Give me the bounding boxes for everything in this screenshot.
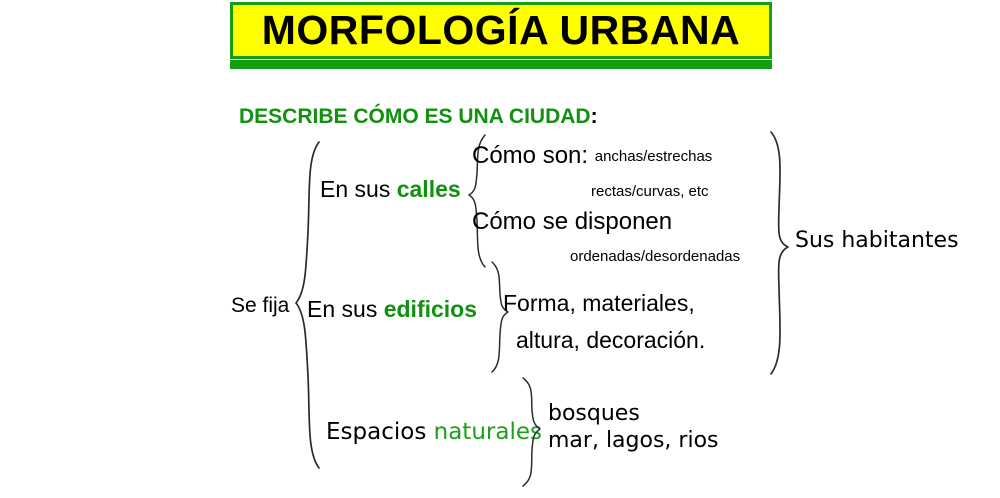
detail-ordenadas-desordenadas: ordenadas/desordenadas <box>570 248 740 265</box>
branch-label-prefix: Espacios <box>326 419 434 445</box>
branch-keyword-calles: calles <box>397 176 461 202</box>
title-underbar <box>230 60 772 69</box>
detail-como-se-disponen: Cómo se disponen <box>472 208 672 236</box>
branch-label-espacios-naturales: Espacios naturales <box>326 419 542 445</box>
detail-bosques: bosques <box>548 401 640 426</box>
title-banner: MORFOLOGÍA URBANA <box>230 2 772 69</box>
branch-label-edificios: En sus edificios <box>307 296 477 322</box>
outcome-label: Sus habitantes <box>795 228 959 253</box>
slide-canvas: MORFOLOGÍA URBANA DESCRIBE CÓMO ES UNA C… <box>0 0 1000 498</box>
branch-label-prefix: En sus <box>320 176 397 202</box>
branch-label-prefix: En sus <box>307 296 384 322</box>
detail-como-son: Cómo son: anchas/estrechas <box>472 142 712 170</box>
detail-rectas-curvas: rectas/curvas, etc <box>591 183 709 200</box>
detail-como-son-main: Cómo son: <box>472 142 588 169</box>
root-label: Se fija <box>231 294 289 318</box>
subtitle-colon: : <box>591 105 598 128</box>
brace-espacios-naturales <box>516 376 544 488</box>
page-title: MORFOLOGÍA URBANA <box>262 10 740 51</box>
detail-altura-decoracion: altura, decoración. <box>516 327 705 353</box>
detail-anchas-estrechas: anchas/estrechas <box>595 148 713 165</box>
outcome-brace <box>762 130 792 376</box>
subtitle-text: DESCRIBE CÓMO ES UNA CIUDAD <box>239 105 591 128</box>
detail-mar-lagos-rios: mar, lagos, rios <box>548 428 719 453</box>
branch-keyword-edificios: edificios <box>384 296 477 322</box>
detail-forma-materiales: Forma, materiales, <box>503 290 695 316</box>
title-box: MORFOLOGÍA URBANA <box>230 2 772 59</box>
subtitle: DESCRIBE CÓMO ES UNA CIUDAD: <box>239 106 598 127</box>
brace-edificios <box>487 260 513 374</box>
branch-label-calles: En sus calles <box>320 176 461 202</box>
